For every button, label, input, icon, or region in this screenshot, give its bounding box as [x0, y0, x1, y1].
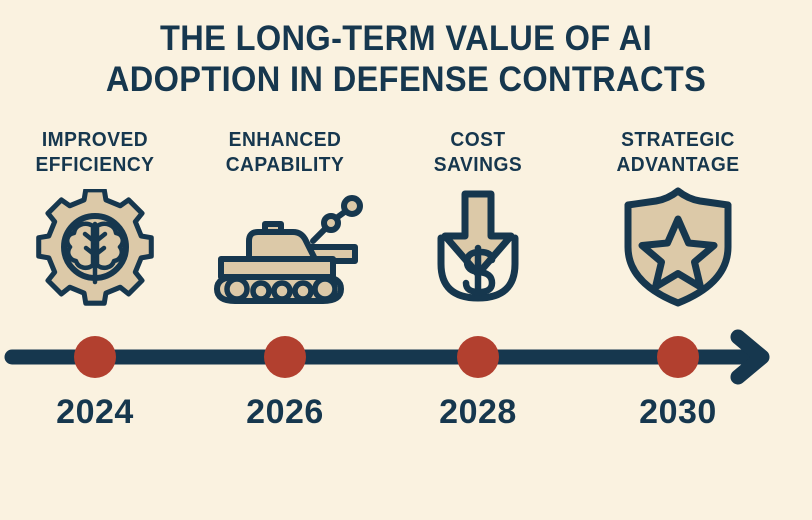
milestone-2-label: ENHANCED CAPABILITY — [194, 128, 376, 178]
milestone-4-label-line1: STRATEGIC — [621, 129, 735, 151]
milestone-3-label: COST SAVINGS — [387, 128, 569, 178]
timeline-dot-2028[interactable] — [457, 336, 499, 378]
milestone-1-label-line2: EFFICIENCY — [4, 153, 186, 178]
timeline-dot-2026[interactable] — [264, 336, 306, 378]
tank-icon — [190, 188, 380, 308]
page-title: THE LONG-TERM VALUE OF AI ADOPTION IN DE… — [0, 18, 812, 100]
milestone-2-label-line2: CAPABILITY — [194, 153, 376, 178]
milestone-1-label-line1: IMPROVED — [42, 129, 148, 151]
title-line-1: THE LONG-TERM VALUE OF AI — [28, 18, 783, 59]
milestone-3[interactable]: COST SAVINGS — [383, 128, 573, 308]
milestone-3-label-line2: SAVINGS — [387, 153, 569, 178]
milestone-1[interactable]: IMPROVED EFFICIENCY — [0, 128, 190, 308]
year-label-2026: 2026 — [205, 392, 365, 432]
shield-star-icon — [583, 188, 773, 308]
milestone-3-label-line1: COST — [450, 129, 505, 151]
milestone-1-label: IMPROVED EFFICIENCY — [4, 128, 186, 178]
year-label-2028: 2028 — [398, 392, 558, 432]
dollar-down-arrow-icon — [383, 188, 573, 308]
milestone-2[interactable]: ENHANCED CAPABILITY — [190, 128, 380, 308]
milestone-4[interactable]: STRATEGIC ADVANTAGE — [583, 128, 773, 308]
year-label-2024: 2024 — [15, 392, 175, 432]
year-label-2030: 2030 — [598, 392, 758, 432]
title-line-2: ADOPTION IN DEFENSE CONTRACTS — [28, 59, 783, 100]
infographic-canvas: THE LONG-TERM VALUE OF AI ADOPTION IN DE… — [0, 0, 812, 520]
gear-brain-icon — [0, 188, 190, 308]
milestone-2-label-line1: ENHANCED — [229, 129, 342, 151]
timeline-axis — [0, 325, 812, 391]
timeline-dot-2030[interactable] — [657, 336, 699, 378]
milestone-4-label-line2: ADVANTAGE — [587, 153, 769, 178]
timeline-dot-2024[interactable] — [74, 336, 116, 378]
milestone-4-label: STRATEGIC ADVANTAGE — [587, 128, 769, 178]
